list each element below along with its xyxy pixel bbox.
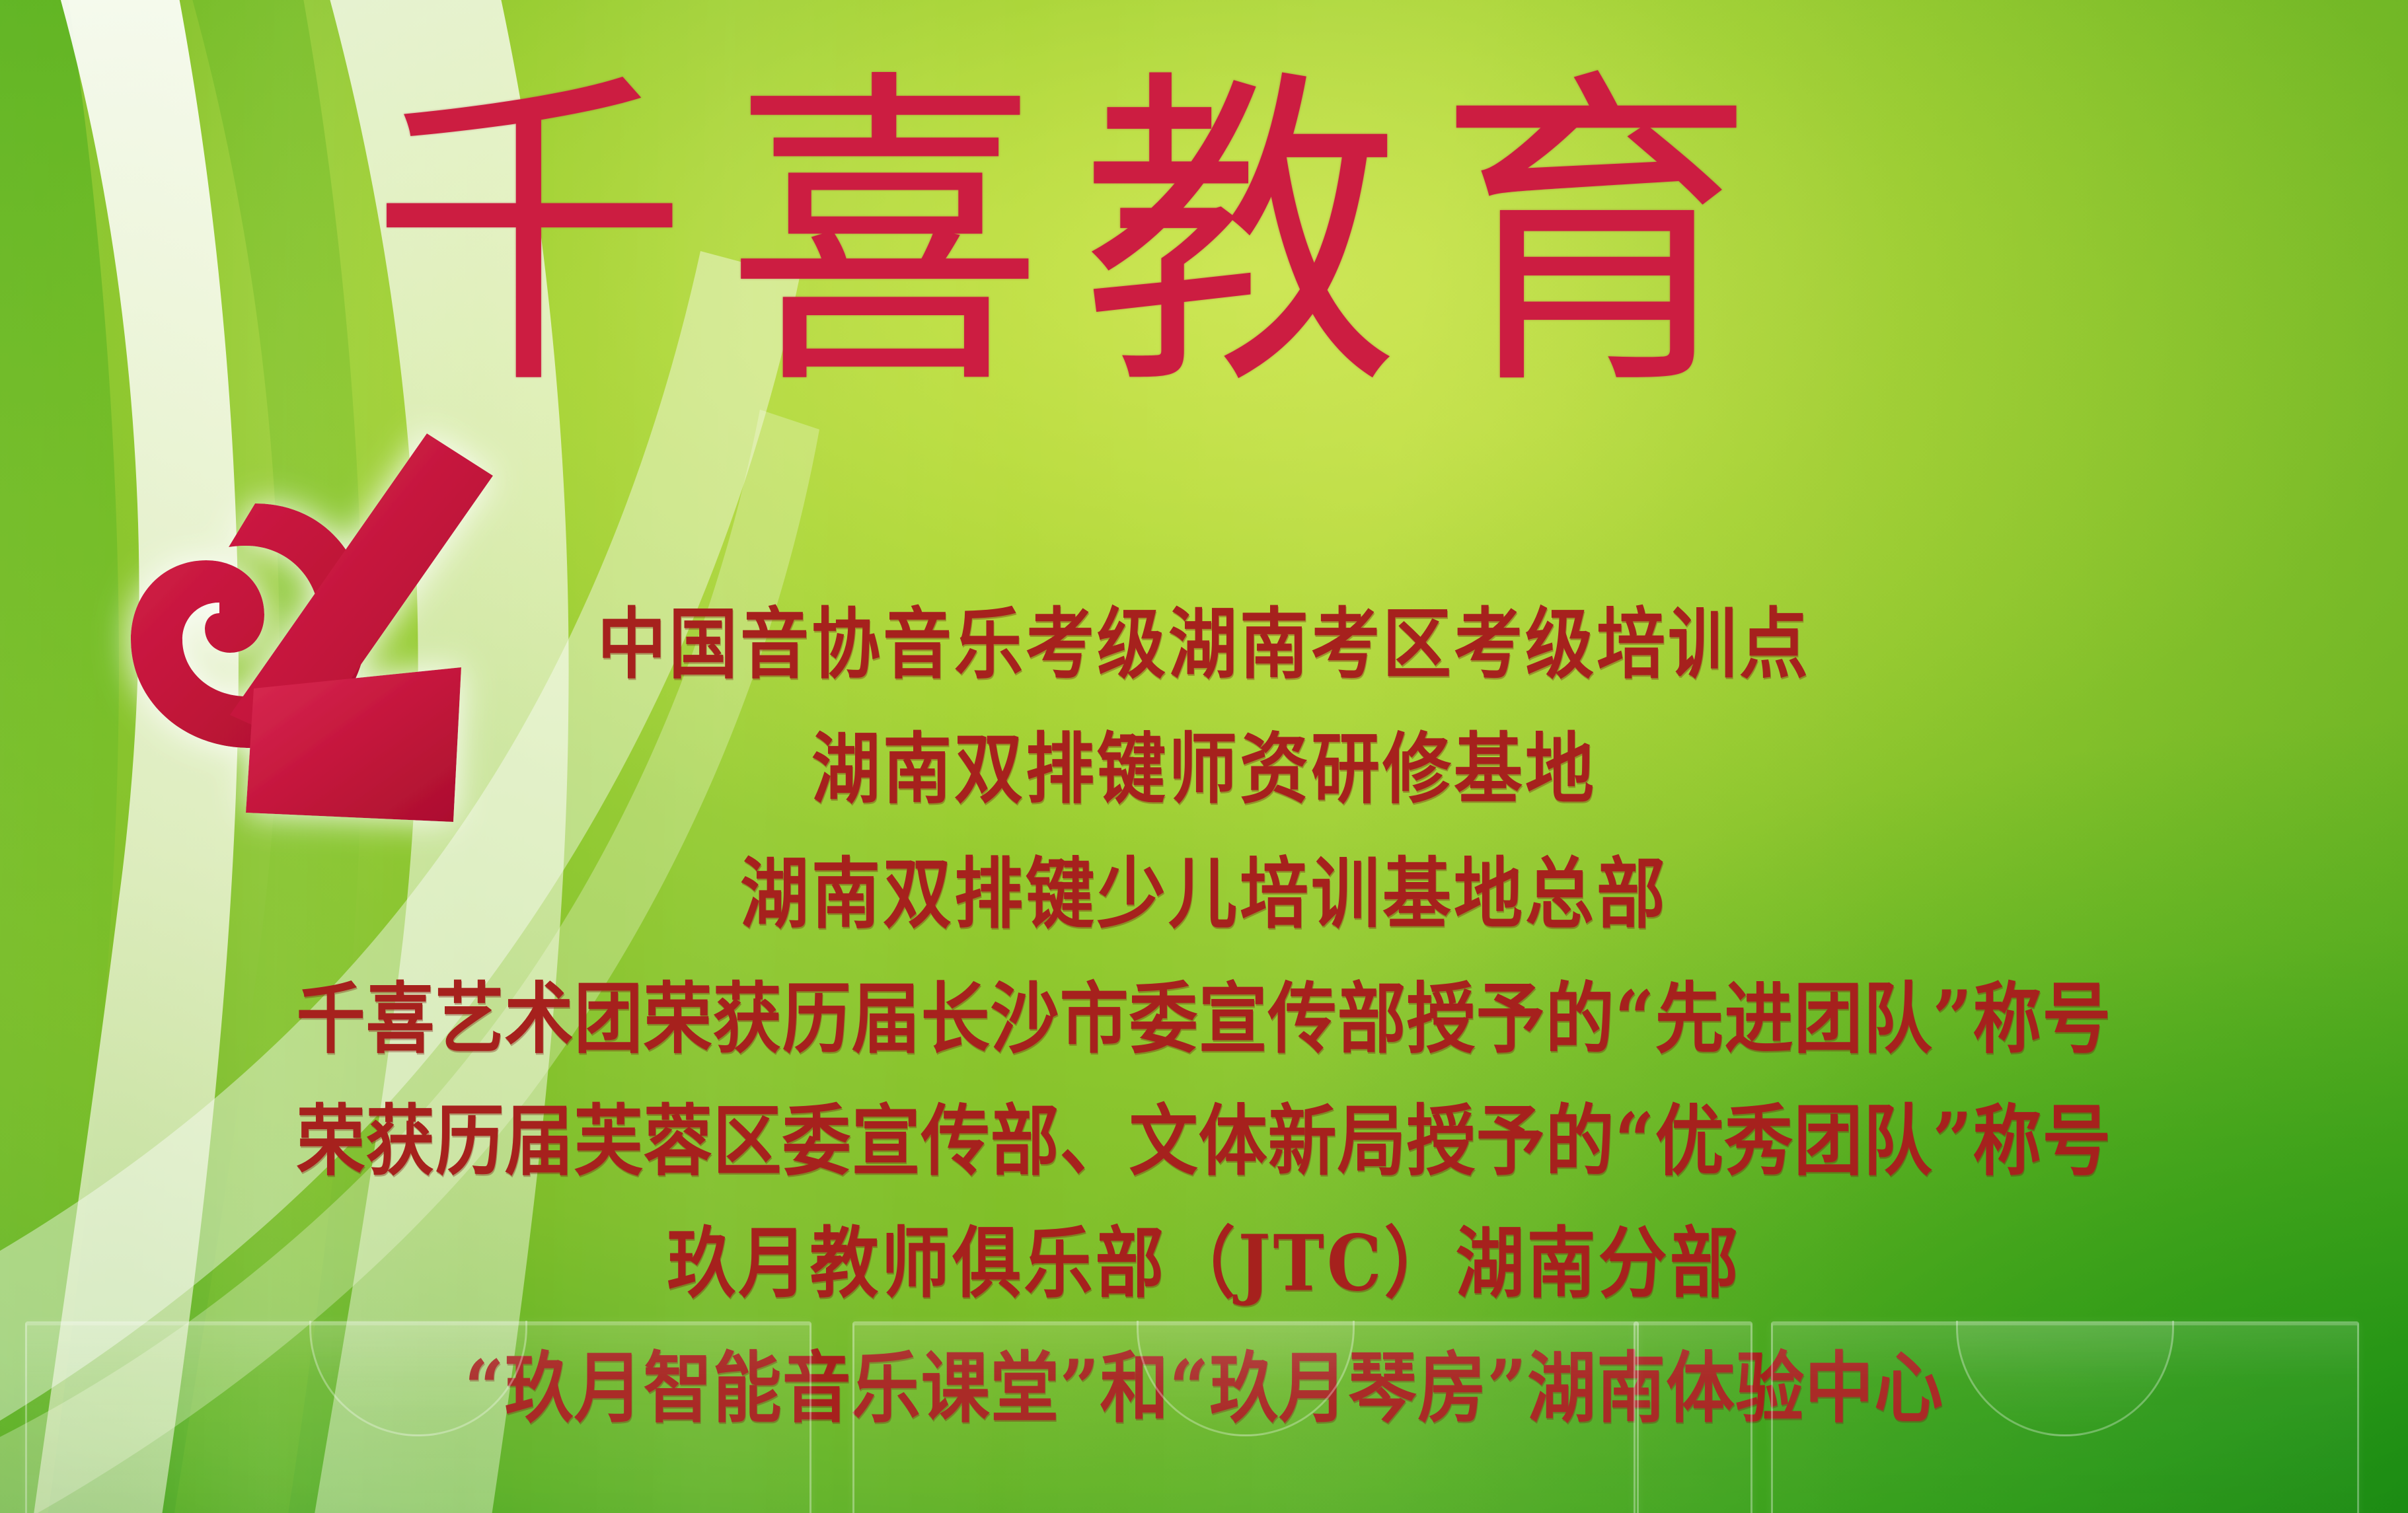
brochure-pocket-2[interactable] [852, 1321, 1639, 1513]
pocket-thumb-notch [1137, 1321, 1355, 1436]
credential-line: 千喜艺术团荣获历届长沙市委宣传部授予的“先进团队”称号 [297, 956, 2112, 1068]
brochure-pocket-1[interactable] [25, 1321, 811, 1513]
brochure-pocket-3[interactable] [1634, 1321, 1752, 1513]
credential-line: 玖月教师俱乐部（JTC）湖南分部 [667, 1200, 1741, 1312]
wall-signage-panel: 千喜教育 中国音协音乐考级湖南考区考级培训点 湖南双排键师资研修基地 湖南双排键… [0, 0, 2408, 1513]
page-title: 千喜教育 [370, 71, 1792, 402]
brochure-pocket-4[interactable] [1771, 1321, 2359, 1513]
pocket-thumb-notch [309, 1321, 527, 1436]
pocket-thumb-notch [1956, 1321, 2174, 1436]
credential-line: 湖南双排键少儿培训基地总部 [740, 831, 1668, 943]
org-title-block: 千喜教育 [370, 52, 2088, 422]
credential-line: 湖南双排键师资研修基地 [811, 706, 1597, 818]
brochure-holder-row [0, 1302, 2408, 1513]
credential-line: 荣获历届芙蓉区委宣传部、文体新局授予的“优秀团队”称号 [297, 1078, 2112, 1190]
credential-line: 中国音协音乐考级湖南考区考级培训点 [597, 581, 1811, 693]
